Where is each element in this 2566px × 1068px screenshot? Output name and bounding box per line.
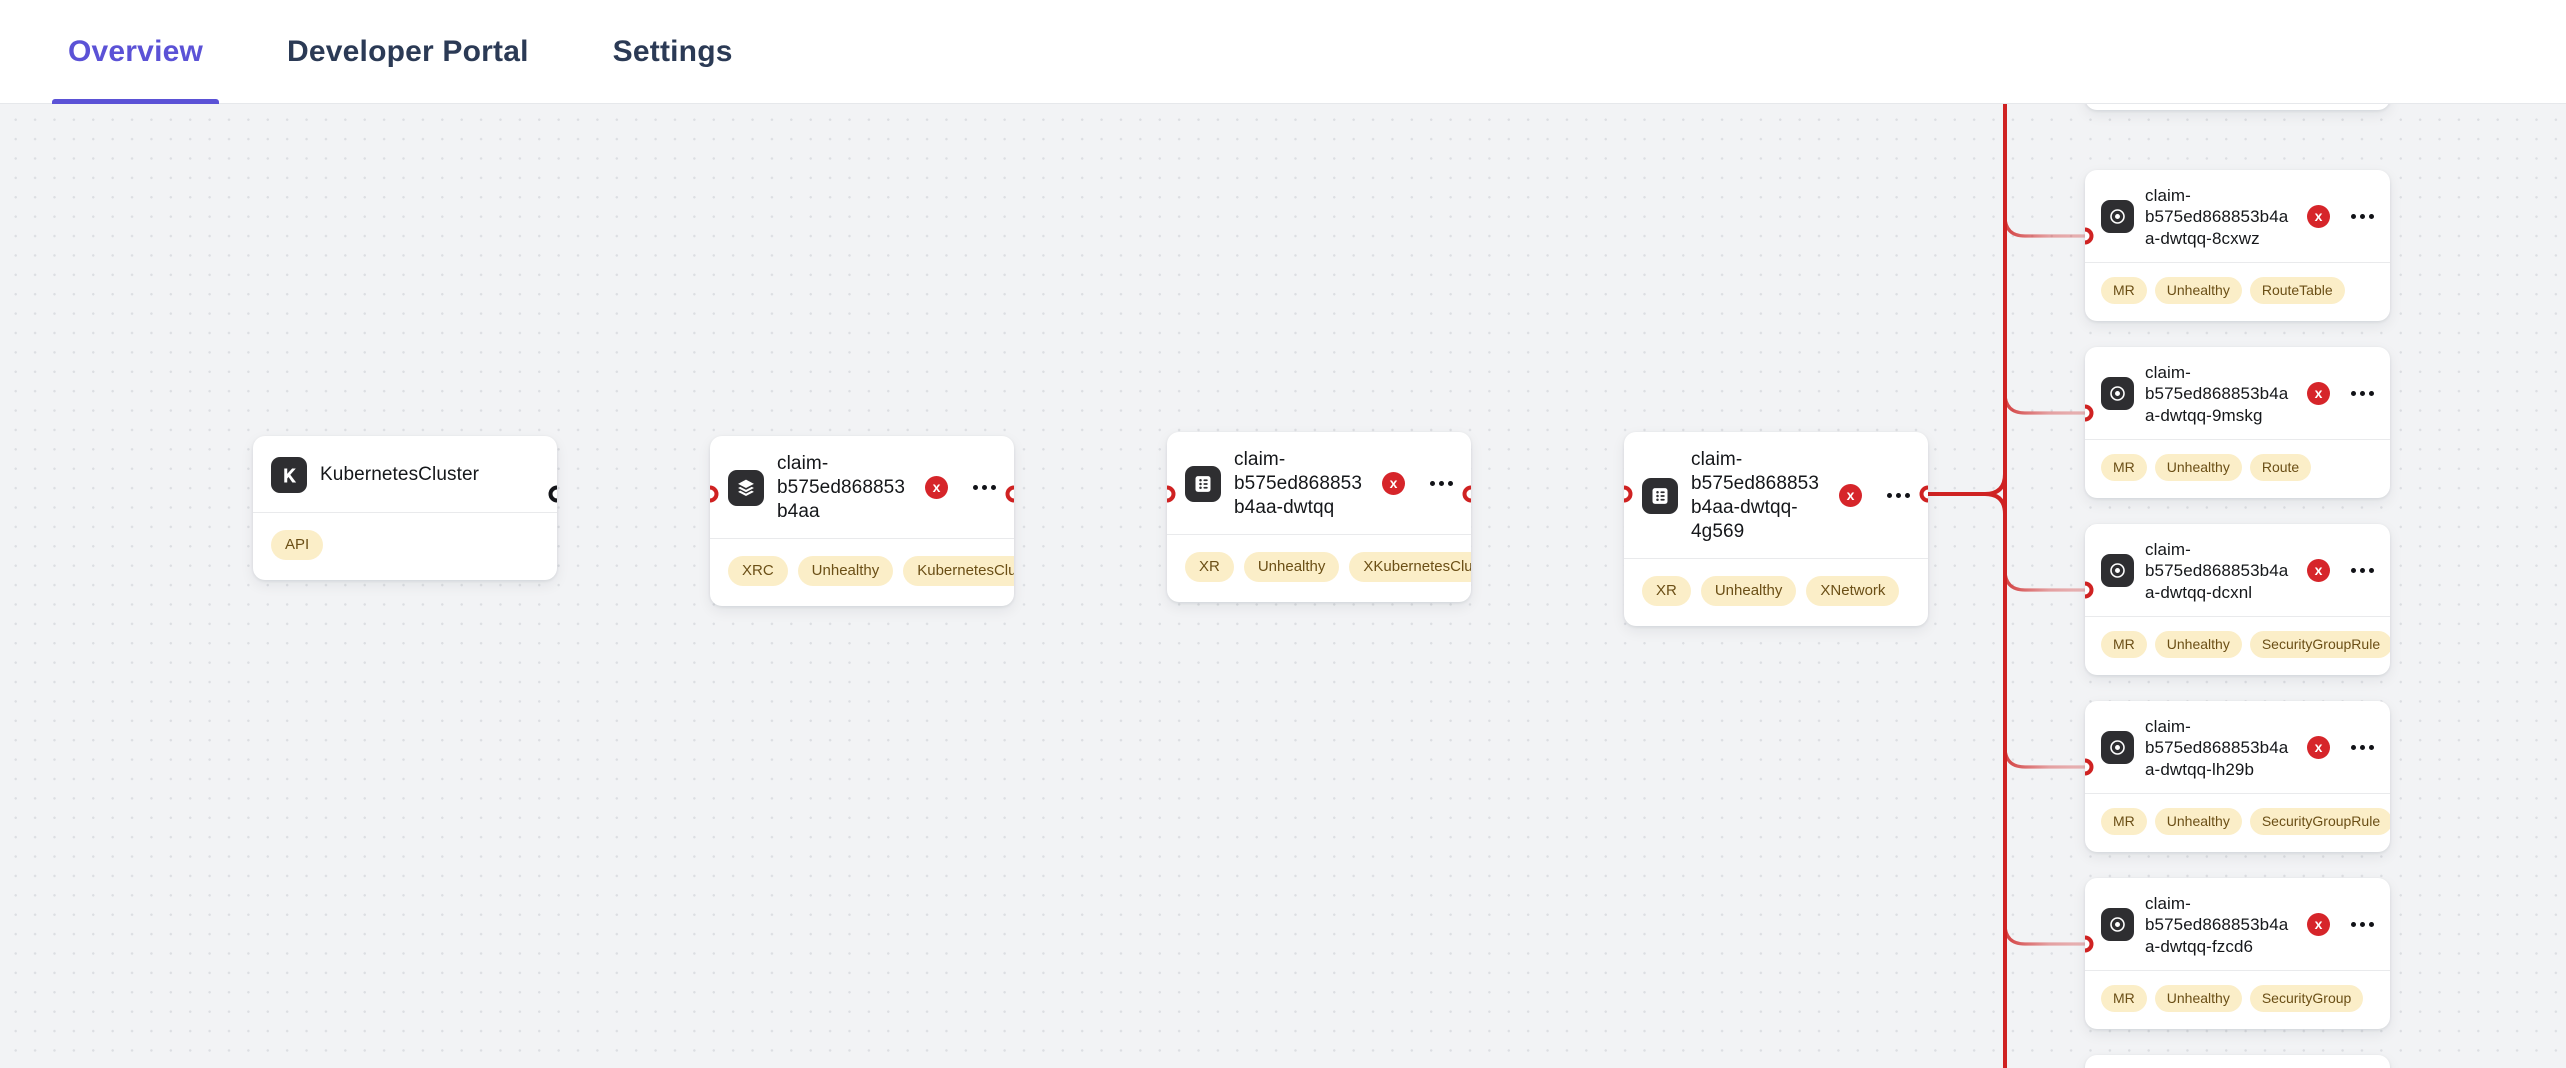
- node-tag-list: XRC Unhealthy KubernetesCluster: [710, 539, 1014, 606]
- target-icon: [2101, 377, 2134, 410]
- mr-card-title: claim-b575ed868853b4aa-dwtqq-fzcd6: [2145, 893, 2296, 957]
- mr-card-title: claim-b575ed868853b4aa-dwtqq-9mskg: [2145, 362, 2296, 426]
- tab-settings-label: Settings: [613, 35, 733, 69]
- error-badge[interactable]: x: [2307, 736, 2330, 759]
- mr-card-menu-button[interactable]: [2341, 385, 2376, 402]
- edge-branch-fzcd6: [2005, 924, 2085, 944]
- node-tag-status: Unhealthy: [1701, 576, 1797, 606]
- target-icon: [2101, 731, 2134, 764]
- node-menu-button[interactable]: [961, 479, 998, 496]
- target-icon: [2101, 200, 2134, 233]
- mr-tag-status: Unhealthy: [2155, 808, 2242, 835]
- mr-card-header: claim-b575ed868853b4aa-dwtqq-8cxwz x: [2085, 170, 2390, 262]
- mr-card-header: claim-b575ed868853b4aa-dwtqq-dcxnl x: [2085, 524, 2390, 616]
- error-badge[interactable]: x: [2307, 205, 2330, 228]
- node-title: claim-b575ed868853b4aa-dwtqq-4g569: [1691, 448, 1826, 544]
- mr-card-9mskg[interactable]: claim-b575ed868853b4aa-dwtqq-9mskg x MR …: [2085, 347, 2390, 498]
- tab-developer-portal-label: Developer Portal: [287, 35, 529, 69]
- error-badge[interactable]: x: [2307, 913, 2330, 936]
- mr-tag-resource-kind: SecurityGroup: [2250, 985, 2363, 1012]
- node-tag: API: [271, 530, 323, 560]
- mr-tag-resource-kind: SecurityGroupRule: [2250, 631, 2390, 658]
- error-badge[interactable]: x: [1382, 472, 1405, 495]
- mr-tag-kind-short: MR: [2101, 985, 2147, 1012]
- node-header: claim-b575ed868853b4aa-dwtqq x: [1167, 432, 1471, 534]
- mr-tag-kind-short: MR: [2101, 454, 2147, 481]
- kubernetes-k-icon: [271, 457, 307, 493]
- mr-card-tag-list: MR Unhealthy SecurityGroup: [2085, 971, 2390, 1029]
- error-badge[interactable]: x: [2307, 382, 2330, 405]
- mr-card-header: claim-b575ed868853b4aa-dwtqq-9mskg x: [2085, 347, 2390, 439]
- mr-card-partial-bottom[interactable]: [2085, 1055, 2390, 1068]
- mr-card-menu-button[interactable]: [2341, 208, 2376, 225]
- node-menu-button[interactable]: [1418, 475, 1455, 492]
- mr-tag-status: Unhealthy: [2155, 277, 2242, 304]
- edge-trunk-stem-up: [1928, 474, 2005, 494]
- graph-node-claim-xrc[interactable]: claim-b575ed868853b4aa x XRC Unhealthy K…: [710, 436, 1014, 606]
- edge-branch-lh29b: [2005, 747, 2085, 767]
- mr-card-menu-button[interactable]: [2341, 916, 2376, 933]
- mr-card-title: claim-b575ed868853b4aa-dwtqq-8cxwz: [2145, 185, 2296, 249]
- layers-stack-icon: [728, 470, 764, 506]
- node-tag-kind: XKubernetesCluster: [1349, 552, 1471, 582]
- graph-node-xr-dwtqq[interactable]: claim-b575ed868853b4aa-dwtqq x XR Unheal…: [1167, 432, 1471, 602]
- resource-graph-canvas[interactable]: KubernetesCluster API claim-b575ed868853…: [0, 104, 2566, 1068]
- graph-node-xr-dwtqq-4g569[interactable]: claim-b575ed868853b4aa-dwtqq-4g569 x XR …: [1624, 432, 1928, 626]
- mr-card-tag-list: MR Unhealthy SecurityGroupRule: [2085, 617, 2390, 675]
- edge-branch-dcxnl: [2005, 570, 2085, 590]
- node-header: claim-b575ed868853b4aa x: [710, 436, 1014, 538]
- mr-card-8cxwz[interactable]: claim-b575ed868853b4aa-dwtqq-8cxwz x MR …: [2085, 170, 2390, 321]
- target-icon: [2101, 554, 2134, 587]
- resource-list-icon: [1642, 478, 1678, 514]
- mr-card-fzcd6[interactable]: claim-b575ed868853b4aa-dwtqq-fzcd6 x MR …: [2085, 878, 2390, 1029]
- mr-tag-status: Unhealthy: [2155, 454, 2242, 481]
- node-title: claim-b575ed868853b4aa: [777, 452, 912, 524]
- node-title: claim-b575ed868853b4aa-dwtqq: [1234, 448, 1369, 520]
- node-tag-list: API: [253, 513, 557, 580]
- mr-card-menu-button[interactable]: [2341, 562, 2376, 579]
- error-badge[interactable]: x: [2307, 559, 2330, 582]
- node-header: claim-b575ed868853b4aa-dwtqq-4g569 x: [1624, 432, 1928, 558]
- error-badge[interactable]: x: [1839, 484, 1862, 507]
- mr-card-tag-list: MR Unhealthy SecurityGroupRule: [2085, 794, 2390, 852]
- mr-tag-kind-short: MR: [2101, 808, 2147, 835]
- node-title: KubernetesCluster: [320, 463, 541, 487]
- mr-tag-resource-kind: SecurityGroupRule: [2250, 808, 2390, 835]
- mr-card-header: claim-b575ed868853b4aa-dwtqq-lh29b x: [2085, 701, 2390, 793]
- mr-card-menu-button[interactable]: [2341, 739, 2376, 756]
- tab-developer-portal[interactable]: Developer Portal: [271, 0, 545, 104]
- mr-card-title: claim-b575ed868853b4aa-dwtqq-dcxnl: [2145, 539, 2296, 603]
- mr-tag-status: Unhealthy: [2155, 985, 2242, 1012]
- node-tag-list: XR Unhealthy XKubernetesCluster: [1167, 535, 1471, 602]
- node-tag-status: Unhealthy: [798, 556, 894, 586]
- primary-tab-bar: Overview Developer Portal Settings: [0, 0, 2566, 104]
- edge-branch-9mskg: [2005, 393, 2085, 413]
- node-tag-list: XR Unhealthy XNetwork: [1624, 559, 1928, 626]
- tab-settings[interactable]: Settings: [597, 0, 749, 104]
- node-tag: XRC: [728, 556, 788, 586]
- mr-card-lh29b[interactable]: claim-b575ed868853b4aa-dwtqq-lh29b x MR …: [2085, 701, 2390, 852]
- mr-card-tag-list: MR Unhealthy RouteTable: [2085, 263, 2390, 321]
- node-tag: XR: [1642, 576, 1691, 606]
- mr-card-header: claim-b575ed868853b4aa-dwtqq-fzcd6 x: [2085, 878, 2390, 970]
- node-tag-status: Unhealthy: [1244, 552, 1340, 582]
- edge-trunk-stem-down: [1928, 494, 2005, 514]
- mr-card-title: claim-b575ed868853b4aa-dwtqq-lh29b: [2145, 716, 2296, 780]
- tab-overview-label: Overview: [68, 35, 203, 69]
- mr-tag-kind-short: MR: [2101, 277, 2147, 304]
- mr-tag-resource-kind: Route: [2250, 454, 2311, 481]
- tab-overview[interactable]: Overview: [52, 0, 219, 104]
- error-badge[interactable]: x: [925, 476, 948, 499]
- mr-card-tag-list: MR Unhealthy Route: [2085, 440, 2390, 498]
- mr-tag-status: Unhealthy: [2155, 631, 2242, 658]
- edge-branch-8cxwz: [2005, 216, 2085, 236]
- mr-card-partial-top[interactable]: [2085, 104, 2390, 110]
- mr-tag-kind-short: MR: [2101, 631, 2147, 658]
- node-tag-kind: XNetwork: [1806, 576, 1899, 606]
- resource-list-icon: [1185, 466, 1221, 502]
- node-tag: XR: [1185, 552, 1234, 582]
- mr-tag-resource-kind: RouteTable: [2250, 277, 2345, 304]
- node-header: KubernetesCluster: [253, 436, 557, 512]
- graph-node-kubernetes-cluster[interactable]: KubernetesCluster API: [253, 436, 557, 580]
- node-tag-kind: KubernetesCluster: [903, 556, 1014, 586]
- target-icon: [2101, 908, 2134, 941]
- mr-card-dcxnl[interactable]: claim-b575ed868853b4aa-dwtqq-dcxnl x MR …: [2085, 524, 2390, 675]
- node-menu-button[interactable]: [1875, 487, 1912, 504]
